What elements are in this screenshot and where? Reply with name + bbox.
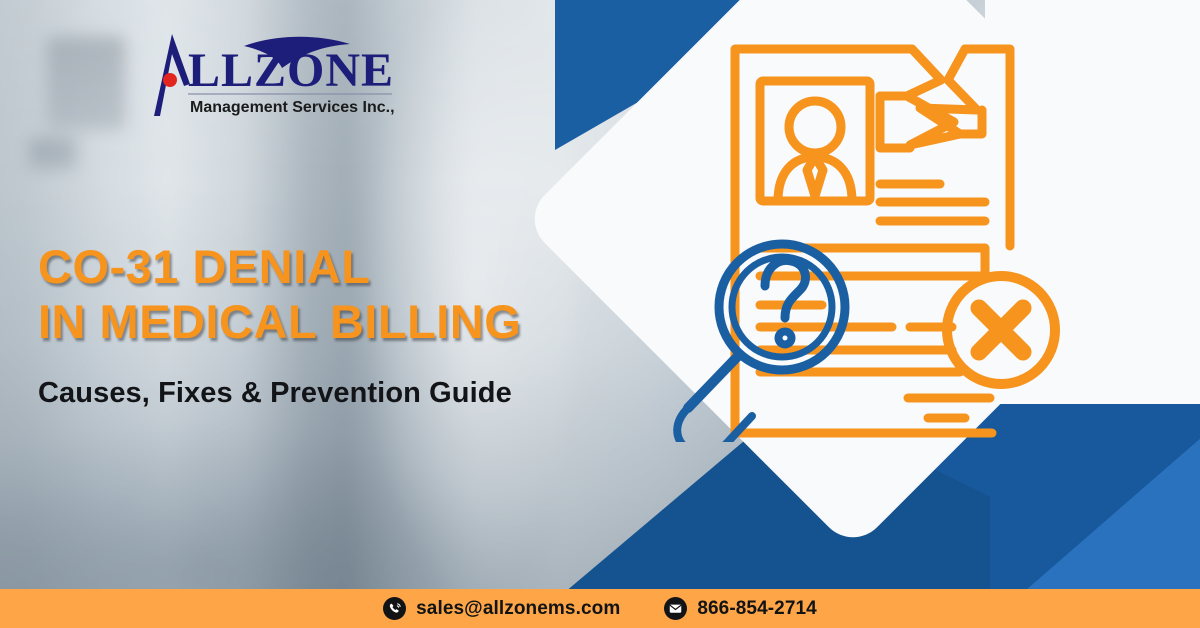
headline-subtitle: Causes, Fixes & Prevention Guide [38, 377, 638, 410]
envelope-icon [664, 597, 687, 620]
headline-block: CO-31 DENIAL IN MEDICAL BILLING Causes, … [38, 240, 638, 410]
person-tie-icon [807, 157, 823, 196]
allzone-red-dot [163, 73, 177, 87]
headline-line-1: CO-31 DENIAL [38, 240, 638, 295]
illustration-denied-claim [660, 18, 1080, 442]
person-head-icon [789, 101, 841, 153]
document-right-edge [965, 49, 1010, 246]
allzone-logo: LLZONE Management Services Inc., [126, 28, 396, 120]
contact-email[interactable]: sales@allzonems.com [383, 597, 620, 620]
contact-footer-bar: sales@allzonems.com 866-854-2714 [0, 589, 1200, 628]
contact-email-text: sales@allzonems.com [416, 598, 620, 620]
phone-ringing-icon [383, 597, 406, 620]
tear-flap-left [880, 96, 910, 148]
banner-graphic: LLZONE Management Services Inc., CO-31 D… [0, 0, 1200, 628]
contact-phone-text: 866-854-2714 [697, 598, 817, 620]
headline-line-2: IN MEDICAL BILLING [38, 295, 638, 350]
contact-phone[interactable]: 866-854-2714 [664, 597, 817, 620]
circle-x-reject-icon [947, 276, 1055, 384]
allzone-tagline-text: Management Services Inc., [190, 99, 395, 116]
